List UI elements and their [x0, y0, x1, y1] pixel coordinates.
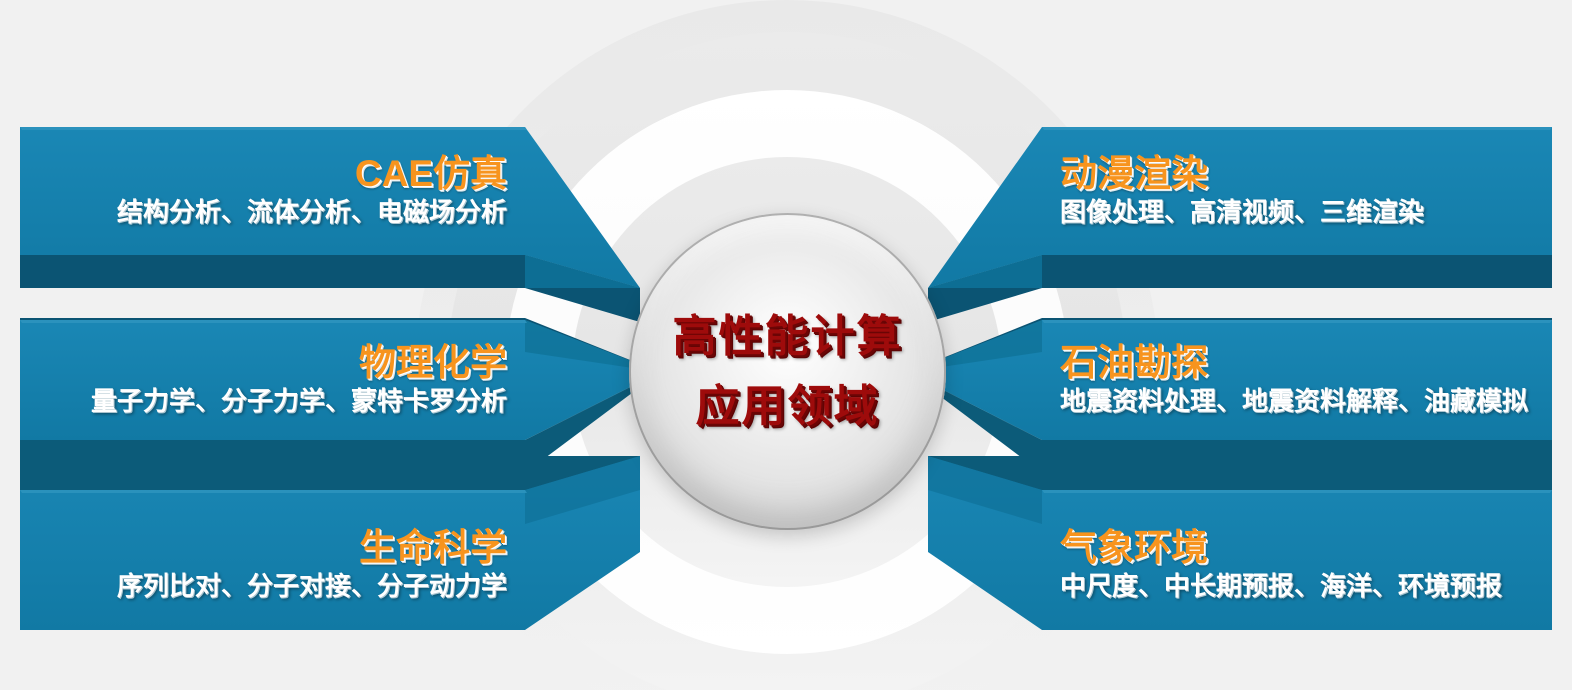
card-title: 动漫渲染	[1060, 154, 1208, 193]
card-title: 气象环境	[1060, 528, 1208, 567]
card-desc: 地震资料处理、地震资料解释、油藏模拟	[1060, 386, 1528, 417]
center-title-line2: 应用领域	[696, 385, 880, 429]
card-cae[interactable]: CAE仿真 结构分析、流体分析、电磁场分析	[20, 127, 525, 255]
card-desc: 序列比对、分子对接、分子动力学	[117, 571, 507, 602]
card-desc: 中尺度、中长期预报、海洋、环境预报	[1060, 571, 1502, 602]
card-title: 物理化学	[359, 343, 507, 382]
center-title-line1: 高性能计算	[673, 315, 903, 359]
card-desc: 量子力学、分子力学、蒙特卡罗分析	[91, 386, 507, 417]
center-hub[interactable]: 高性能计算 应用领域	[629, 213, 946, 530]
card-desc: 图像处理、高清视频、三维渲染	[1060, 197, 1424, 228]
diagram-canvas: CAE仿真 结构分析、流体分析、电磁场分析 物理化学 量子力学、分子力学、蒙特卡…	[0, 0, 1572, 690]
card-lifescience[interactable]: 生命科学 序列比对、分子对接、分子动力学	[20, 500, 525, 630]
card-animation[interactable]: 动漫渲染 图像处理、高清视频、三维渲染	[1042, 127, 1552, 255]
card-title: 生命科学	[359, 528, 507, 567]
card-petroleum[interactable]: 石油勘探 地震资料处理、地震资料解释、油藏模拟	[1042, 320, 1552, 440]
card-physchem[interactable]: 物理化学 量子力学、分子力学、蒙特卡罗分析	[20, 320, 525, 440]
card-meteorology[interactable]: 气象环境 中尺度、中长期预报、海洋、环境预报	[1042, 500, 1552, 630]
card-title: 石油勘探	[1060, 343, 1208, 382]
card-title: CAE仿真	[355, 154, 507, 193]
card-desc: 结构分析、流体分析、电磁场分析	[117, 197, 507, 228]
